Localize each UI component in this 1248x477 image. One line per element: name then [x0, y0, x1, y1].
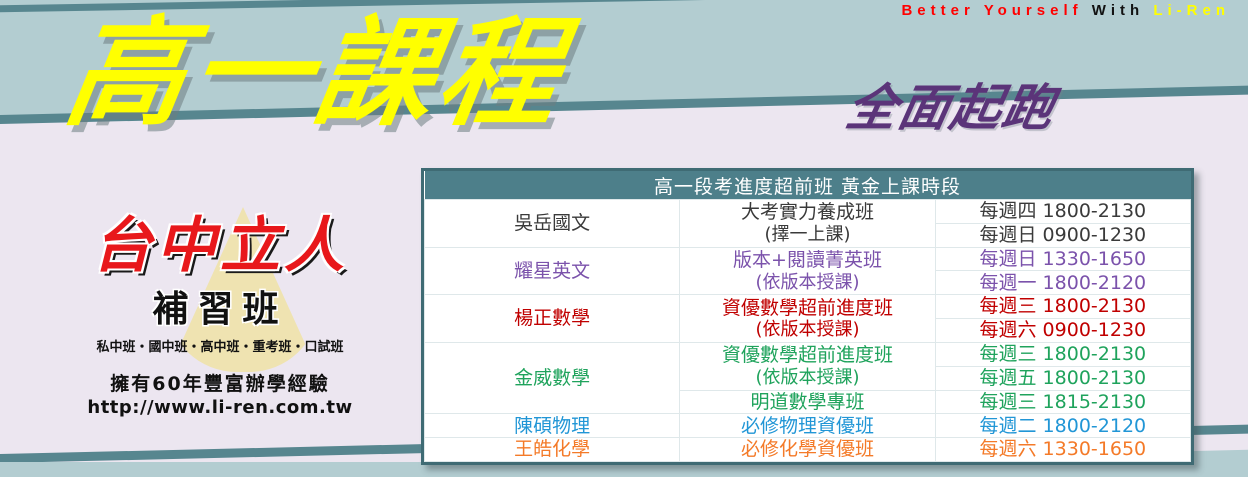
cell-time: 每週六 0900-1230	[935, 319, 1190, 343]
logo-experience: 擁有60年豐富辦學經驗	[50, 369, 390, 396]
cell-time: 每週四 1800-2130	[935, 200, 1190, 224]
cell-teacher: 耀星英文	[425, 247, 680, 295]
logo-name: 台中立人	[50, 215, 390, 278]
logo-tracks: 私中班・國中班・高中班・重考班・口試班	[50, 336, 390, 355]
cell-time: 每週六 1330-1650	[935, 438, 1190, 462]
table-row: 耀星英文版本+閱讀菁英班(依版本授課)每週日 1330-1650	[425, 247, 1191, 271]
logo-type: 補習班	[50, 280, 390, 332]
cell-time: 每週二 1800-2120	[935, 414, 1190, 438]
table-header-row: 高一段考進度超前班 黃金上課時段	[425, 171, 1191, 200]
cell-teacher: 吳岳國文	[425, 200, 680, 248]
cell-course-note: (依版本授課)	[684, 319, 930, 340]
cell-course: 版本+閱讀菁英班(依版本授課)	[680, 247, 935, 295]
tagline-red: Better Yourself	[901, 2, 1082, 19]
page-title: 高一課程	[59, 14, 574, 132]
table-row: 吳岳國文大考實力養成班(擇一上課)每週四 1800-2130	[425, 200, 1191, 224]
cell-course-note: (依版本授課)	[684, 367, 930, 388]
cell-course: 明道數學專班	[680, 390, 935, 414]
cell-teacher: 陳碩物理	[425, 414, 680, 438]
cell-teacher: 楊正數學	[425, 295, 680, 343]
cell-teacher: 金威數學	[425, 342, 680, 413]
cell-time: 每週一 1800-2120	[935, 271, 1190, 295]
schedule-table: 高一段考進度超前班 黃金上課時段 吳岳國文大考實力養成班(擇一上課)每週四 18…	[424, 171, 1191, 462]
cell-course-note: (擇一上課)	[684, 224, 930, 245]
cell-teacher: 王皓化學	[425, 438, 680, 462]
table-row: 金威數學資優數學超前進度班(依版本授課)每週三 1800-2130	[425, 342, 1191, 366]
cell-time: 每週三 1815-2130	[935, 390, 1190, 414]
table-row: 楊正數學資優數學超前進度班(依版本授課)每週三 1800-2130	[425, 295, 1191, 319]
page-subtitle: 全面起跑	[841, 68, 1063, 140]
cell-course-note: (依版本授課)	[684, 272, 930, 293]
tagline-black: With	[1092, 2, 1144, 19]
logo-website-url[interactable]: http://www.li-ren.com.tw	[50, 397, 390, 418]
cell-course: 必修物理資優班	[680, 414, 935, 438]
table-row: 陳碩物理必修物理資優班每週二 1800-2120	[425, 414, 1191, 438]
cell-time: 每週三 1800-2130	[935, 342, 1190, 366]
cell-course: 必修化學資優班	[680, 438, 935, 462]
cell-time: 每週日 0900-1230	[935, 223, 1190, 247]
brand-logo: 台中立人 補習班 私中班・國中班・高中班・重考班・口試班 擁有60年豐富辦學經驗…	[50, 215, 390, 418]
table-row: 王皓化學必修化學資優班每週六 1330-1650	[425, 438, 1191, 462]
cell-time: 每週日 1330-1650	[935, 247, 1190, 271]
cell-time: 每週五 1800-2130	[935, 366, 1190, 390]
cell-course: 資優數學超前進度班(依版本授課)	[680, 342, 935, 390]
tagline-yellow: Li-Ren	[1153, 2, 1230, 19]
cell-course: 資優數學超前進度班(依版本授課)	[680, 295, 935, 343]
schedule-table-container: 高一段考進度超前班 黃金上課時段 吳岳國文大考實力養成班(擇一上課)每週四 18…	[421, 168, 1194, 465]
schedule-title: 高一段考進度超前班 黃金上課時段	[425, 171, 1191, 200]
poster-stage: Better Yourself With Li-Ren 高一課程 全面起跑 台中…	[0, 0, 1248, 477]
cell-course: 大考實力養成班(擇一上課)	[680, 200, 935, 248]
schedule-body: 吳岳國文大考實力養成班(擇一上課)每週四 1800-2130每週日 0900-1…	[425, 200, 1191, 462]
cell-time: 每週三 1800-2130	[935, 295, 1190, 319]
